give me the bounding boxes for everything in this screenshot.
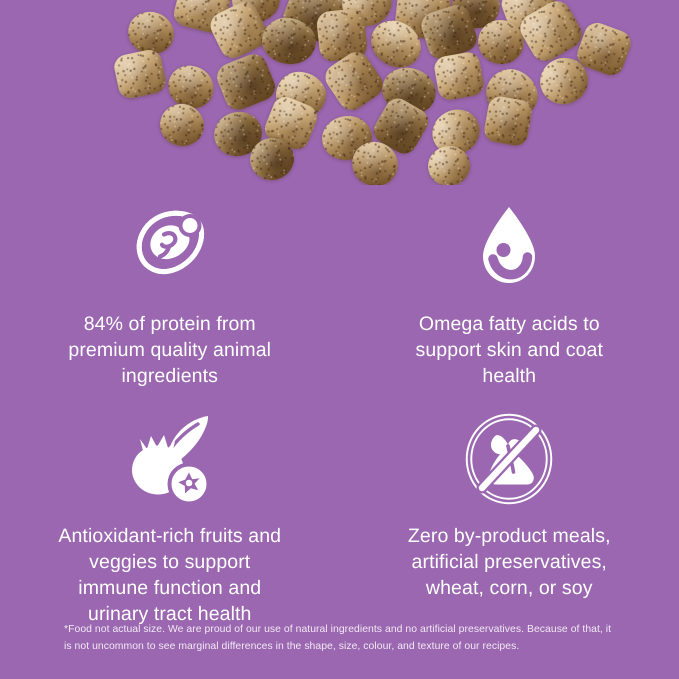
product-benefits-infographic: 84% of protein from premium quality anim… bbox=[0, 0, 679, 679]
benefit-text-no-byproduct: Zero by-product meals, artificial preser… bbox=[392, 524, 627, 602]
benefit-item-no-byproduct: Zero by-product meals, artificial preser… bbox=[340, 390, 679, 628]
benefit-text-antioxidant: Antioxidant-rich fruits and veggies to s… bbox=[52, 524, 287, 628]
benefit-item-antioxidant: Antioxidant-rich fruits and veggies to s… bbox=[0, 390, 340, 628]
water-droplet-smile-icon bbox=[457, 194, 561, 298]
benefit-text-omega: Omega fatty acids to support skin and co… bbox=[392, 312, 627, 390]
kibble-piece bbox=[112, 47, 168, 100]
kibble-photo-band bbox=[0, 0, 679, 185]
kibble-piece bbox=[213, 50, 279, 114]
benefit-text-protein: 84% of protein from premium quality anim… bbox=[52, 312, 287, 390]
benefit-item-omega: Omega fatty acids to support skin and co… bbox=[340, 186, 679, 390]
benefits-grid: 84% of protein from premium quality anim… bbox=[0, 186, 679, 610]
no-byproduct-prohibited-icon bbox=[457, 406, 561, 510]
berries-fruit-icon bbox=[118, 406, 222, 510]
meat-steak-icon bbox=[118, 194, 222, 298]
kibble-piece bbox=[433, 50, 486, 101]
footnote-disclaimer: *Food not actual size. We are proud of o… bbox=[64, 622, 620, 656]
benefit-item-protein: 84% of protein from premium quality anim… bbox=[0, 186, 340, 390]
kibble-piece bbox=[482, 95, 533, 148]
